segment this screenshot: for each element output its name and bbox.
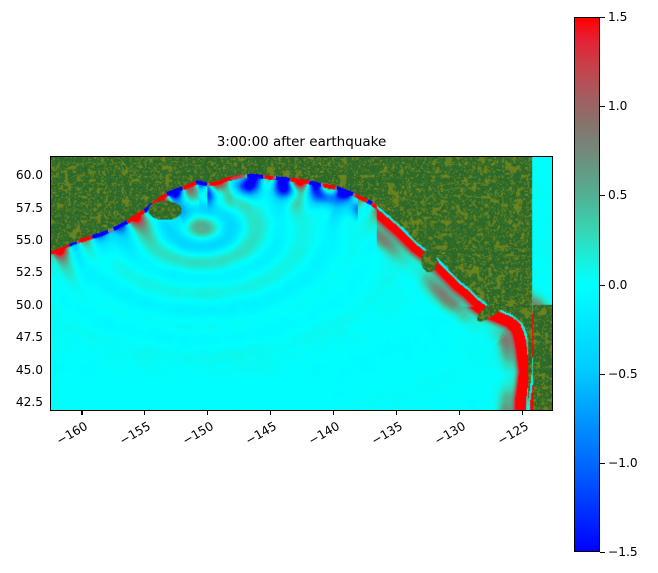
x-axis-tick-mark (459, 411, 460, 415)
x-axis-tick-label: −135 (363, 419, 405, 451)
y-axis-tick (50, 338, 51, 339)
y-axis-tick (50, 176, 51, 177)
y-axis-tick-label: 55.0 (16, 233, 43, 247)
colorbar-tick (600, 17, 605, 18)
y-axis-tick-label: 52.5 (16, 265, 43, 279)
x-axis-tick-label: −125 (489, 419, 531, 451)
y-axis-tick-label: 60.0 (16, 168, 43, 182)
y-axis-tick-label: 50.0 (16, 298, 43, 312)
x-axis-tick-mark (522, 411, 523, 415)
colorbar-tick (600, 463, 605, 464)
colorbar-tick (600, 285, 605, 286)
colorbar-tick-label: −1.5 (608, 545, 638, 559)
colorbar-tick-label: 1.5 (608, 10, 627, 24)
x-axis-tick-label: −150 (175, 419, 217, 451)
x-axis-tick-mark (81, 411, 82, 415)
x-axis-tick-label: −145 (237, 419, 279, 451)
x-axis-tick-label: −155 (112, 419, 154, 451)
colorbar-tick (600, 106, 605, 107)
x-axis-tick-mark (396, 411, 397, 415)
x-axis-tick-label: −140 (300, 419, 342, 451)
colorbar-tick-label: 1.0 (608, 99, 627, 113)
y-axis-tick-label: 47.5 (16, 330, 43, 344)
y-axis-tick (50, 403, 51, 404)
tsunami-heatmap (51, 157, 552, 410)
x-axis-tick-mark (333, 411, 334, 415)
x-axis-tick-label: −130 (426, 419, 468, 451)
x-axis-tick-mark (270, 411, 271, 415)
page-title: 3:00:00 after earthquake (50, 134, 553, 150)
y-axis-tick-label: 42.5 (16, 395, 43, 409)
x-axis-tick-label: −160 (49, 419, 91, 451)
colorbar-tick-label: −0.5 (608, 367, 638, 381)
y-axis-tick (50, 306, 51, 307)
x-axis-tick-mark (207, 411, 208, 415)
colorbar-tick (600, 552, 605, 553)
y-axis-tick-label: 57.5 (16, 201, 43, 215)
y-axis-tick (50, 209, 51, 210)
y-axis-tick (50, 273, 51, 274)
colorbar-tick-label: 0.0 (608, 278, 627, 292)
y-axis-tick-label: 45.0 (16, 363, 43, 377)
colorbar-tick (600, 195, 605, 196)
colorbar-tick-label: −1.0 (608, 456, 638, 470)
colorbar-tick-label: 0.5 (608, 188, 627, 202)
colorbar-tick (600, 374, 605, 375)
colorbar-gradient (574, 17, 600, 552)
map-axes (50, 156, 553, 411)
matplotlib-figure: 3:00:00 after earthquake −1.5−1.0−0.50.0… (0, 0, 658, 573)
y-axis-tick (50, 371, 51, 372)
y-axis-tick (50, 241, 51, 242)
x-axis-tick-mark (144, 411, 145, 415)
colorbar: −1.5−1.0−0.50.00.51.01.5 (574, 17, 600, 552)
